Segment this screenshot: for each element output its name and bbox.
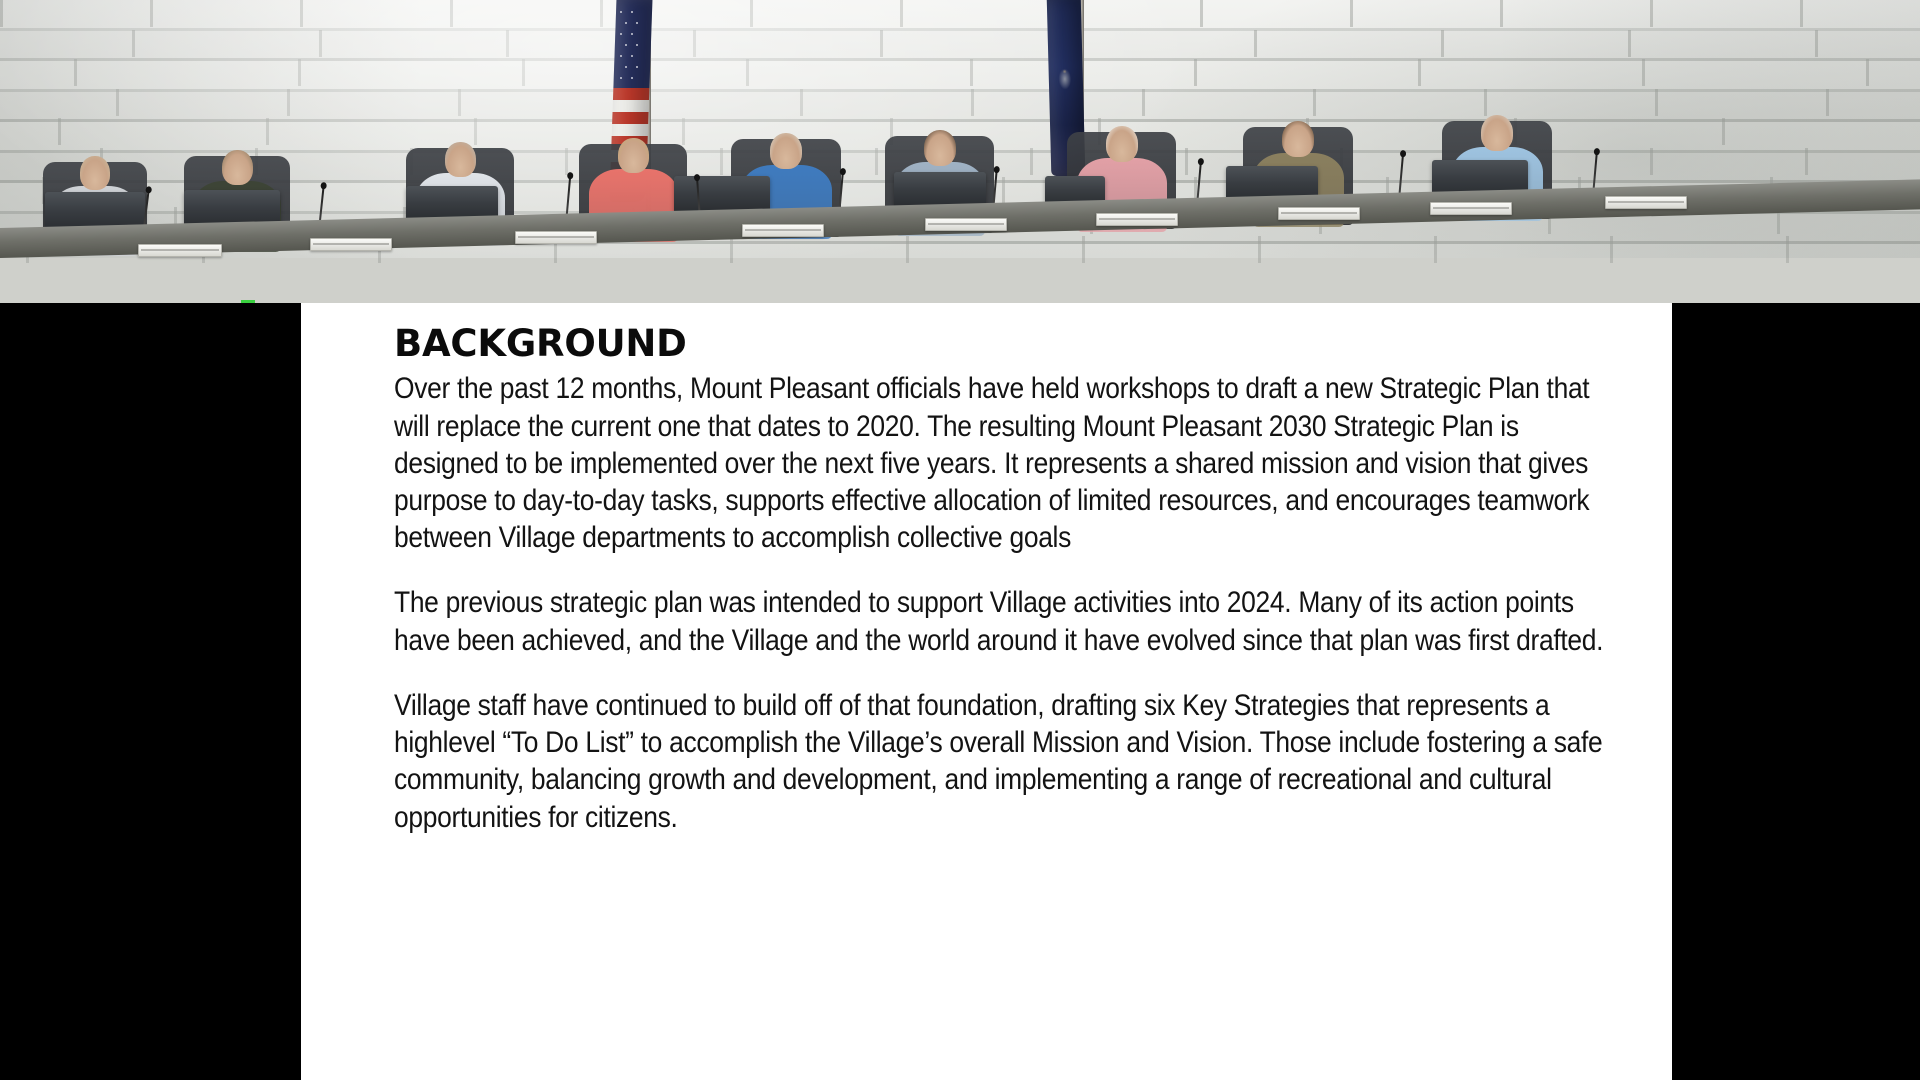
live-video-feed[interactable] [0,0,1920,303]
council-member-nameplate [310,238,392,251]
council-member-nameplate [138,244,222,257]
council-member-nameplate [742,224,824,237]
council-member-nameplate [1605,196,1687,209]
board-member-seat-4-head [618,138,649,173]
slide-paragraph-3: Village staff have continued to build of… [394,687,1620,836]
us-flag-star-field [615,4,645,90]
screen: BACKGROUND Over the past 12 months, Moun… [0,0,1920,1080]
council-member-nameplate [1278,207,1360,220]
board-member-seat-3-head [445,142,476,177]
council-member-nameplate [515,231,597,244]
slide-heading: BACKGROUND [394,325,1612,363]
board-member-seat-9-head [1481,115,1513,151]
board-member-seat-6-head [924,130,956,166]
board-member-seat-5-head [770,133,802,169]
video-artifact [241,300,255,303]
board-member-seat-7-head [1106,126,1138,162]
board-member-seat-2-head [222,150,253,185]
slide-paragraph-1: Over the past 12 months, Mount Pleasant … [394,370,1620,556]
slide-paragraph-2: The previous strategic plan was intended… [394,584,1620,658]
slide-content: BACKGROUND Over the past 12 months, Moun… [394,325,1612,836]
council-member-nameplate [1096,213,1178,226]
council-member-nameplate [1430,202,1512,215]
presentation-slide[interactable]: BACKGROUND Over the past 12 months, Moun… [301,303,1672,1080]
board-member-seat-8-head [1282,121,1314,157]
council-member-nameplate [925,218,1007,231]
board-member-seat-1-head [80,156,110,190]
